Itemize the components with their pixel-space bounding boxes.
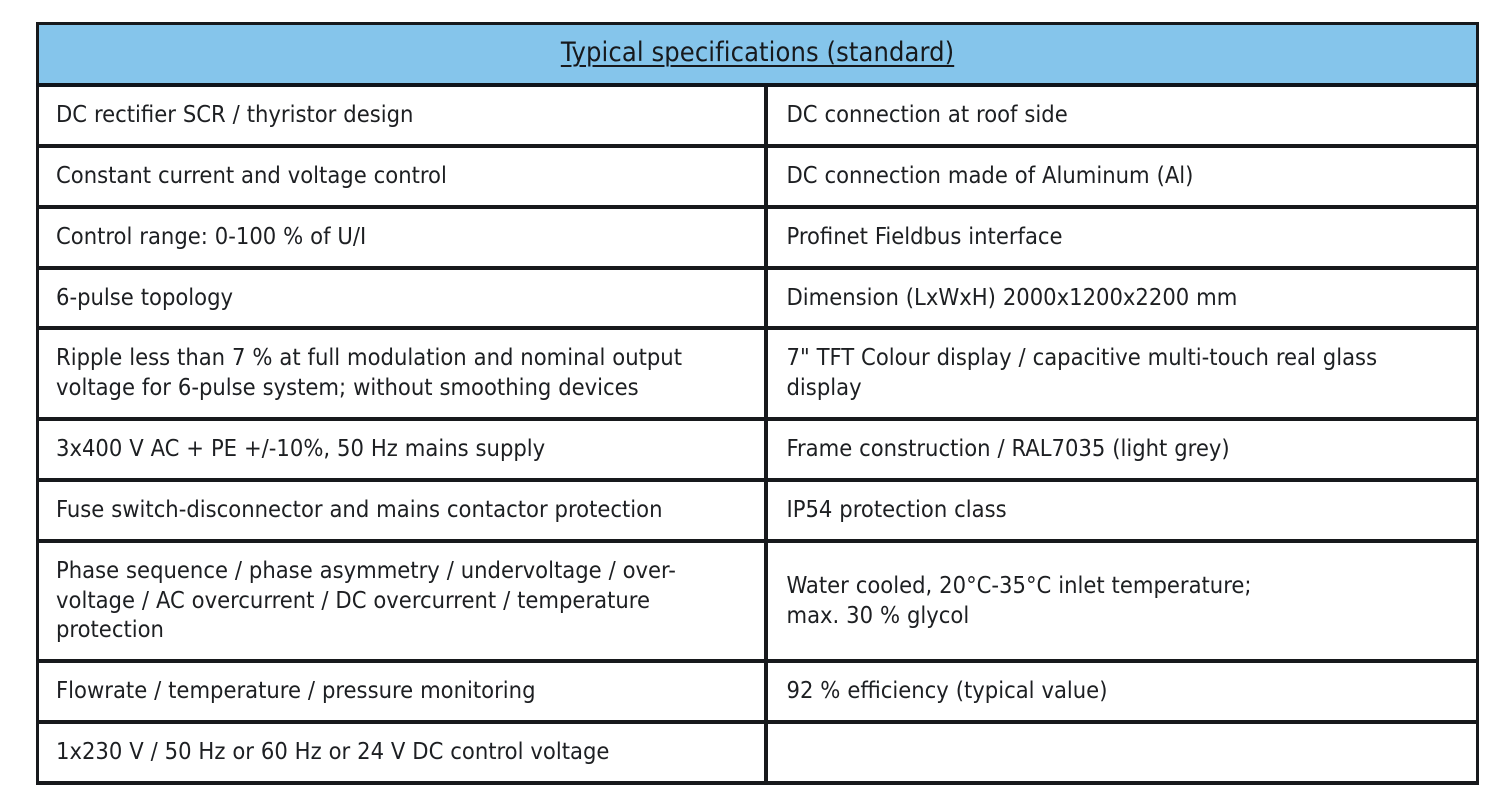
table-row: Control range: 0-100 % of U/IProfinet Fi…: [38, 207, 1478, 268]
spec-cell-left: Control range: 0-100 % of U/I: [38, 207, 766, 268]
spec-cell-left: DC rectifier SCR / thyristor design: [38, 85, 766, 146]
spec-cell-right: 7" TFT Colour display / capacitive multi…: [766, 328, 1478, 419]
spec-cell-right-text: 7" TFT Colour display / capacitive multi…: [787, 343, 1461, 403]
spec-cell-left: 3x400 V AC + PE +/-10%, 50 Hz mains supp…: [38, 419, 766, 480]
spec-cell-left-text: DC rectifier SCR / thyristor design: [56, 100, 748, 130]
spec-cell-right-text: 92 % efficiency (typical value): [787, 676, 1461, 706]
spec-cell-right-text: DC connection made of Aluminum (Al): [787, 161, 1461, 191]
spec-cell-left-text: Control range: 0-100 % of U/I: [56, 222, 748, 252]
table-row: 1x230 V / 50 Hz or 60 Hz or 24 V DC cont…: [38, 722, 1478, 783]
table-row: 6-pulse topologyDimension (LxWxH) 2000x1…: [38, 268, 1478, 329]
table-row: Phase sequence / phase asymmetry / under…: [38, 541, 1478, 662]
spec-cell-right: Frame construction / RAL7035 (light grey…: [766, 419, 1478, 480]
spec-cell-right: IP54 protection class: [766, 480, 1478, 541]
spec-cell-left: Constant current and voltage control: [38, 146, 766, 207]
spec-cell-left: 1x230 V / 50 Hz or 60 Hz or 24 V DC cont…: [38, 722, 766, 783]
spec-cell-left-text: Fuse switch-disconnector and mains conta…: [56, 495, 748, 525]
spec-cell-right-text: Frame construction / RAL7035 (light grey…: [787, 434, 1461, 464]
spec-cell-right-empty: [787, 738, 1461, 766]
spec-cell-right: [766, 722, 1478, 783]
spec-cell-left-text: 6-pulse topology: [56, 283, 748, 313]
spec-cell-right: Water cooled, 20°C-35°C inlet temperatur…: [766, 541, 1478, 662]
spec-cell-right-text: Water cooled, 20°C-35°C inlet temperatur…: [787, 571, 1461, 631]
spec-cell-right-text: Dimension (LxWxH) 2000x1200x2200 mm: [787, 283, 1461, 313]
spec-cell-left: Phase sequence / phase asymmetry / under…: [38, 541, 766, 662]
table-row: Constant current and voltage controlDC c…: [38, 146, 1478, 207]
table-row: Ripple less than 7 % at full modulation …: [38, 328, 1478, 419]
spec-cell-left: Flowrate / temperature / pressure monito…: [38, 661, 766, 722]
spec-cell-left-text: Constant current and voltage control: [56, 161, 748, 191]
table-row: DC rectifier SCR / thyristor designDC co…: [38, 85, 1478, 146]
page-root: Typical specifications (standard) DC rec…: [0, 0, 1504, 766]
table-row: Fuse switch-disconnector and mains conta…: [38, 480, 1478, 541]
spec-cell-left-text: Flowrate / temperature / pressure monito…: [56, 676, 748, 706]
table-title-cell: Typical specifications (standard): [38, 24, 1478, 86]
spec-cell-right-text: IP54 protection class: [787, 495, 1461, 525]
spec-cell-right: Profinet Fieldbus interface: [766, 207, 1478, 268]
table-header: Typical specifications (standard): [38, 24, 1478, 86]
spec-cell-right: 92 % efficiency (typical value): [766, 661, 1478, 722]
spec-cell-left-text: Phase sequence / phase asymmetry / under…: [56, 556, 748, 646]
page-title: Typical specifications (standard): [561, 38, 954, 68]
table-row: Flowrate / temperature / pressure monito…: [38, 661, 1478, 722]
spec-cell-left-text: 3x400 V AC + PE +/-10%, 50 Hz mains supp…: [56, 434, 748, 464]
typical-specifications-table: Typical specifications (standard) DC rec…: [36, 22, 1479, 785]
spec-cell-left: Ripple less than 7 % at full modulation …: [38, 328, 766, 419]
table-body: DC rectifier SCR / thyristor designDC co…: [38, 85, 1478, 783]
table-row: 3x400 V AC + PE +/-10%, 50 Hz mains supp…: [38, 419, 1478, 480]
spec-cell-left-text: 1x230 V / 50 Hz or 60 Hz or 24 V DC cont…: [56, 737, 748, 767]
spec-cell-left: Fuse switch-disconnector and mains conta…: [38, 480, 766, 541]
table-header-row: Typical specifications (standard): [38, 24, 1478, 86]
spec-cell-right-text: Profinet Fieldbus interface: [787, 222, 1461, 252]
spec-cell-left: 6-pulse topology: [38, 268, 766, 329]
spec-cell-right: DC connection at roof side: [766, 85, 1478, 146]
spec-cell-left-text: Ripple less than 7 % at full modulation …: [56, 343, 748, 403]
spec-cell-right-text: DC connection at roof side: [787, 100, 1461, 130]
spec-cell-right: Dimension (LxWxH) 2000x1200x2200 mm: [766, 268, 1478, 329]
spec-cell-right: DC connection made of Aluminum (Al): [766, 146, 1478, 207]
